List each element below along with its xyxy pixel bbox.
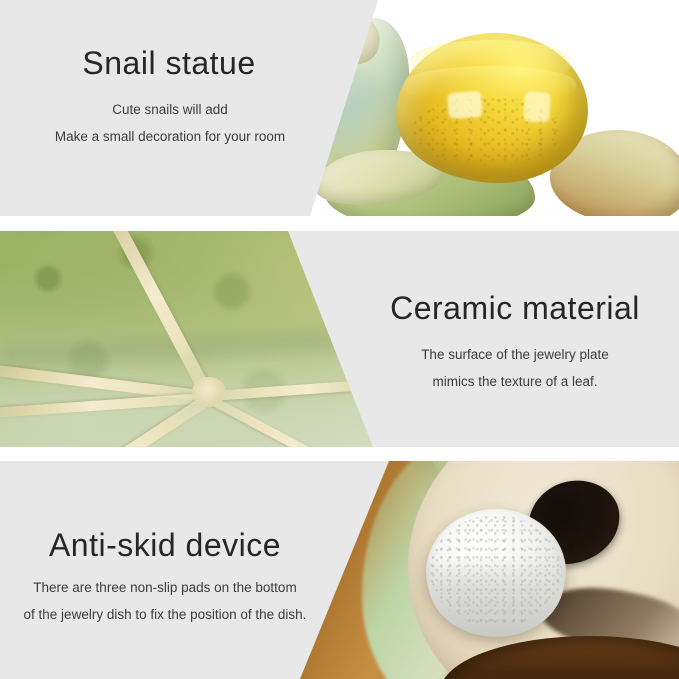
feature-text-snail-statue: Snail statue Cute snails will add Make a… [0, 44, 340, 150]
feature-description-line: Cute snails will add [0, 96, 340, 123]
leaf-vein-junction [192, 377, 226, 407]
feature-description: Cute snails will add Make a small decora… [0, 96, 340, 150]
feature-title: Ceramic material [340, 289, 679, 327]
feature-description-line: There are three non-slip pads on the bot… [0, 574, 330, 601]
feature-description: The surface of the jewelry plate mimics … [340, 341, 679, 395]
feature-panel-anti-skid-device: Anti-skid device There are three non-sli… [0, 461, 679, 679]
feature-text-ceramic-material: Ceramic material The surface of the jewe… [340, 289, 679, 395]
product-infographic: Snail statue Cute snails will add Make a… [0, 0, 679, 679]
feature-description-line: of the jewelry dish to fix the position … [0, 601, 330, 628]
feature-title: Snail statue [0, 44, 340, 82]
non-slip-pad-texture [430, 515, 562, 627]
feature-description: There are three non-slip pads on the bot… [0, 574, 330, 628]
feature-description-line: mimics the texture of a leaf. [340, 368, 679, 395]
shell-highlight-right [523, 91, 551, 122]
shell-highlight-left [447, 91, 483, 119]
feature-text-anti-skid-device: Anti-skid device There are three non-sli… [0, 526, 330, 628]
feature-title: Anti-skid device [0, 526, 330, 564]
feature-panel-ceramic-material: Ceramic material The surface of the jewe… [0, 231, 679, 447]
feature-description-line: The surface of the jewelry plate [340, 341, 679, 368]
feature-description-line: Make a small decoration for your room [0, 123, 340, 150]
feature-panel-snail-statue: Snail statue Cute snails will add Make a… [0, 0, 679, 216]
